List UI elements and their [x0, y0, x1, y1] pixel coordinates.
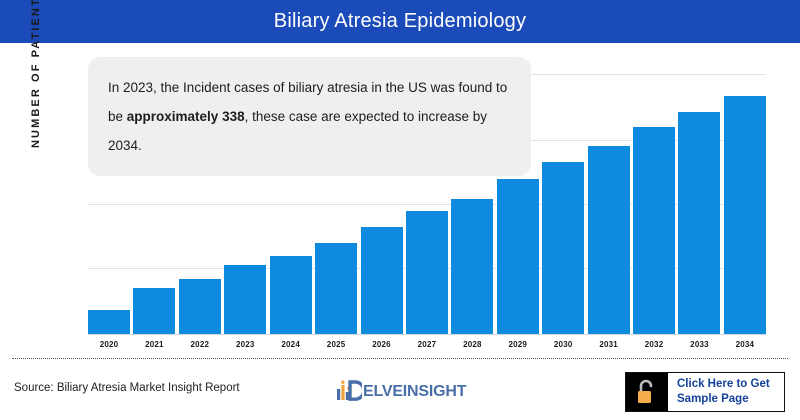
- y-axis-label: NUMBER OF PATIENTS: [30, 0, 42, 148]
- bar: [88, 310, 130, 334]
- bar-slot: [724, 60, 766, 334]
- x-axis-tick-label: 2020: [88, 340, 130, 349]
- callout-highlight: approximately 338: [127, 109, 245, 124]
- x-axis-tick-label: 2024: [270, 340, 312, 349]
- bar: [270, 256, 312, 334]
- x-axis-tick-label: 2023: [224, 340, 266, 349]
- bar: [724, 96, 766, 334]
- cta-line-1: Click Here to Get: [677, 377, 784, 392]
- x-axis-tick-label: 2031: [588, 340, 630, 349]
- x-axis-labels: 2020202120222023202420252026202720282029…: [88, 340, 766, 349]
- bar: [633, 127, 675, 334]
- x-axis-tick-label: 2026: [361, 340, 403, 349]
- x-axis-tick-label: 2025: [315, 340, 357, 349]
- bar: [542, 162, 584, 334]
- sample-page-button[interactable]: Click Here to Get Sample Page: [625, 372, 785, 412]
- bar-slot: [588, 60, 630, 334]
- logo-mark-svg: [336, 380, 362, 404]
- bar-slot: [542, 60, 584, 334]
- x-axis-tick-label: 2028: [451, 340, 493, 349]
- logo-wordmark: ELVEINSIGHT: [363, 383, 466, 401]
- bar: [406, 211, 448, 334]
- bar: [451, 199, 493, 334]
- open-padlock-icon: [626, 373, 668, 411]
- bar: [588, 146, 630, 334]
- x-axis-tick-label: 2034: [724, 340, 766, 349]
- bar: [179, 279, 221, 334]
- sample-page-button-label[interactable]: Click Here to Get Sample Page: [668, 373, 784, 411]
- x-axis-tick-label: 2032: [633, 340, 675, 349]
- padlock-svg: [635, 378, 659, 406]
- cta-line-2: Sample Page: [677, 392, 784, 407]
- bar: [678, 112, 720, 334]
- page-title: Biliary Atresia Epidemiology: [274, 10, 526, 33]
- bar: [361, 227, 403, 334]
- bar: [315, 243, 357, 334]
- chart-region: NUMBER OF PATIENTS 202020212022202320242…: [0, 43, 800, 358]
- bar-slot: [633, 60, 675, 334]
- bar-slot: [678, 60, 720, 334]
- x-axis-line: [88, 334, 766, 335]
- bar: [133, 288, 175, 334]
- source-text: Source: Biliary Atresia Market Insight R…: [14, 382, 240, 394]
- x-axis-tick-label: 2022: [179, 340, 221, 349]
- x-axis-tick-label: 2030: [542, 340, 584, 349]
- logo-bars-icon: [336, 380, 362, 404]
- delveinsight-logo: ELVEINSIGHT: [336, 379, 466, 405]
- bar: [224, 265, 266, 334]
- x-axis-tick-label: 2021: [133, 340, 175, 349]
- logo-wordmark-text: ELVEINSIGHT: [363, 383, 466, 400]
- page-header: Biliary Atresia Epidemiology: [0, 0, 800, 43]
- bar: [497, 179, 539, 334]
- x-axis-tick-label: 2029: [497, 340, 539, 349]
- x-axis-tick-label: 2033: [678, 340, 720, 349]
- x-axis-tick-label: 2027: [406, 340, 448, 349]
- insight-callout: In 2023, the Incident cases of biliary a…: [88, 57, 531, 176]
